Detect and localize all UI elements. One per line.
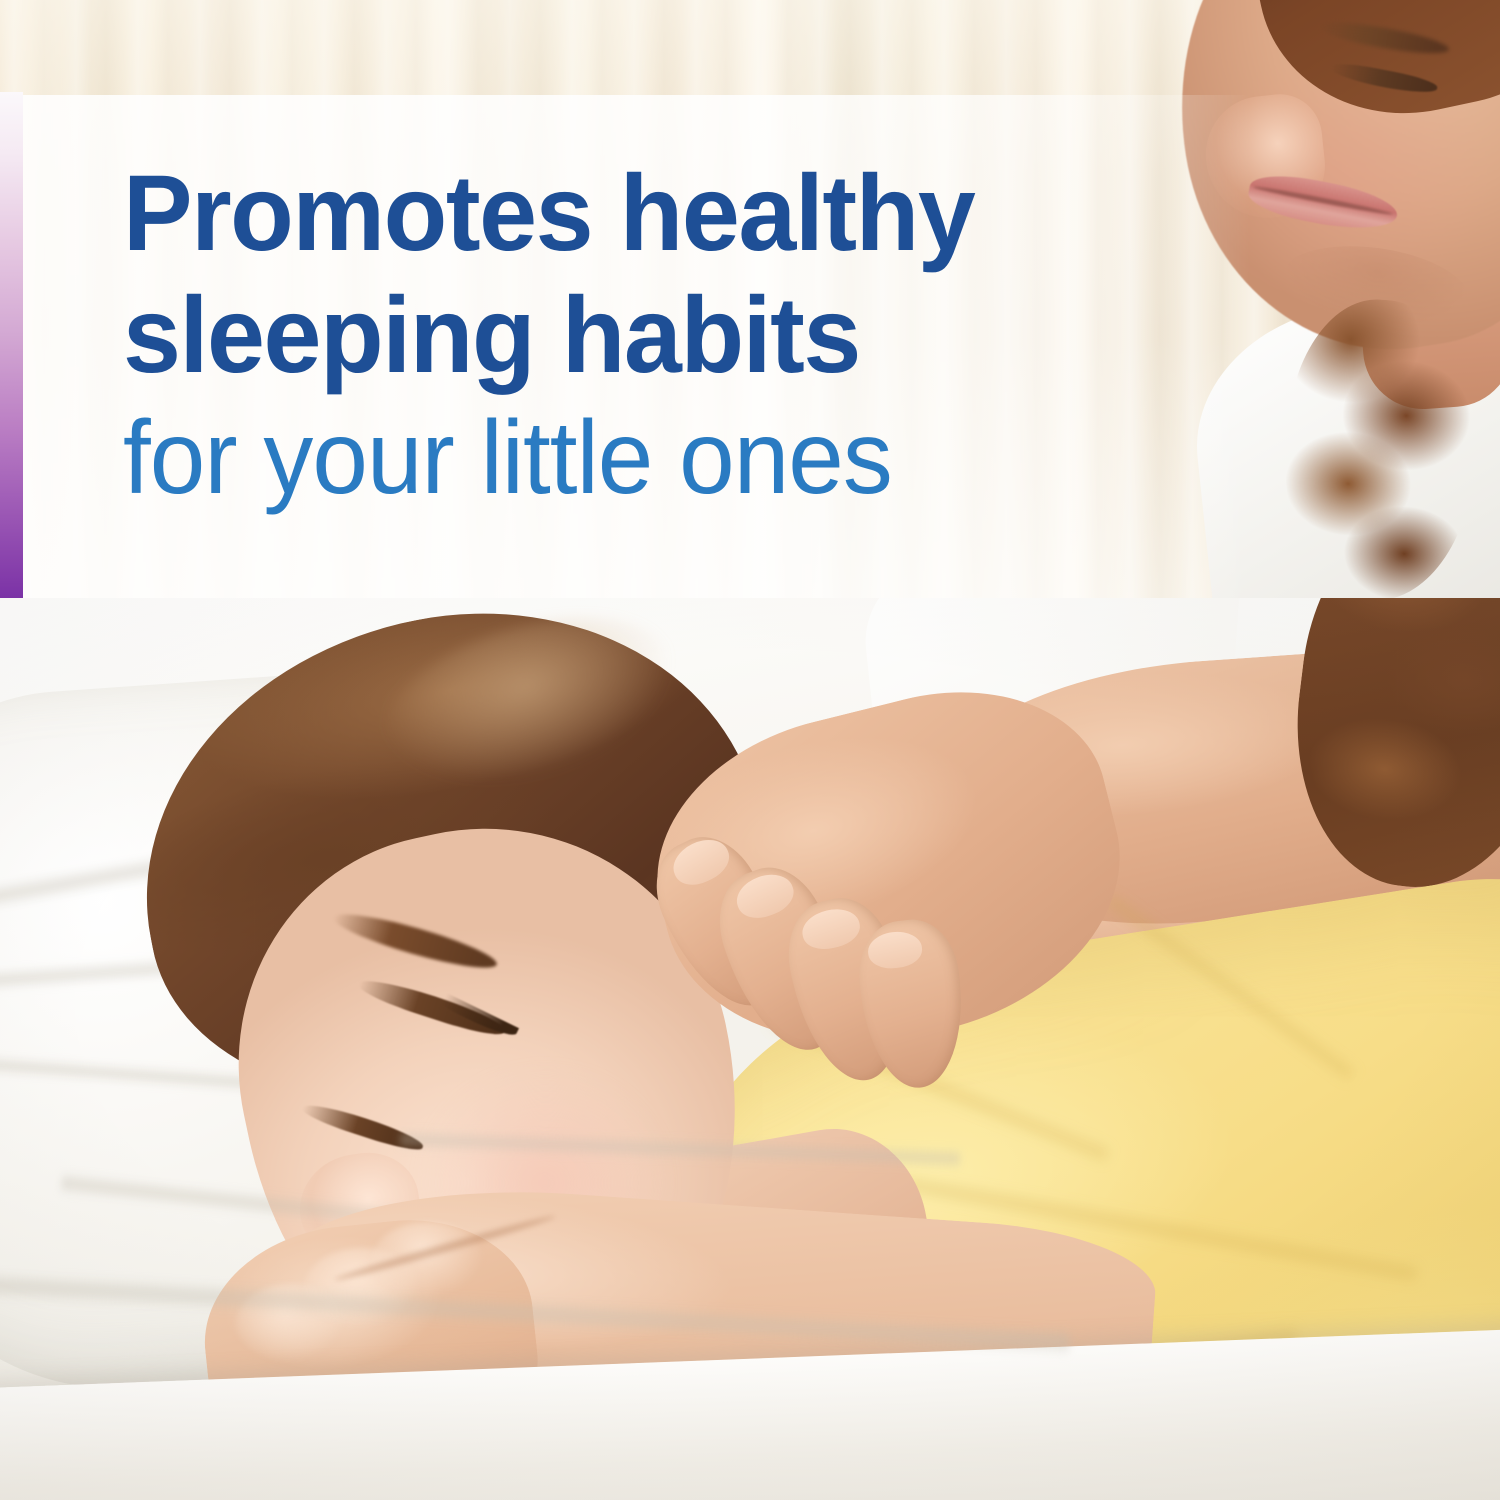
headline-line-1: Promotes healthy xyxy=(123,152,1049,274)
photo-bottom-bedroom-scene xyxy=(0,598,1500,1500)
brand-accent-bar xyxy=(0,92,23,598)
headline-line-2: sleeping habits xyxy=(123,274,1049,396)
subheadline: for your little ones xyxy=(123,396,1045,520)
banner-stage: Promotes healthy sleeping habits for you… xyxy=(0,0,1500,1500)
caption-text-block: Promotes healthy sleeping habits for you… xyxy=(123,152,1083,520)
